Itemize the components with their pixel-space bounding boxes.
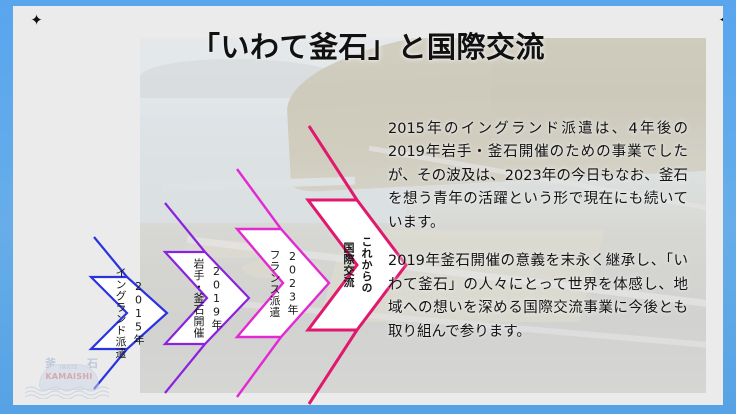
body-copy: 2015年のイングランド派遣は、4年後の2019年岩手・釜石開催のための事業でし…	[388, 118, 688, 344]
kamaishi-logo-watermark: 釜 石 IWATE KAMAISHI	[25, 355, 113, 399]
logo-banner-main: KAMAISHI	[40, 372, 98, 381]
body-paragraph-1: 2015年のイングランド派遣は、4年後の2019年岩手・釜石開催のための事業でし…	[388, 118, 688, 235]
logo-waves-icon	[25, 385, 113, 399]
body-paragraph-2: 2019年釜石開催の意義を末永く継承し、「いわて釜石」の人々にとって世界を体感し…	[388, 250, 688, 344]
slide-frame: ✦ ✦ 「いわて釜石」と国際交流 2015年 イングランド派遣	[0, 0, 736, 414]
slide-canvas: ✦ ✦ 「いわて釜石」と国際交流 2015年 イングランド派遣	[13, 6, 723, 405]
page-title: 「いわて釜石」と国際交流	[13, 24, 723, 66]
logo-banner-top: IWATE	[40, 365, 98, 371]
